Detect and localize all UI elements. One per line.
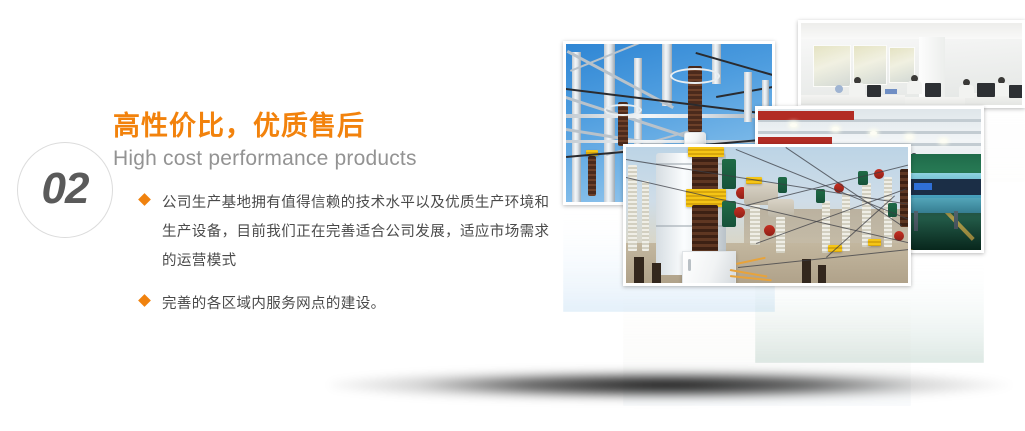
photo-collage — [0, 0, 1025, 431]
switchgear-photo — [623, 144, 911, 286]
banner-slide: 02 高性价比，优质售后 High cost performance produ… — [0, 0, 1025, 431]
switchgear-photo-reflection — [623, 288, 911, 406]
office-photo — [798, 20, 1025, 108]
